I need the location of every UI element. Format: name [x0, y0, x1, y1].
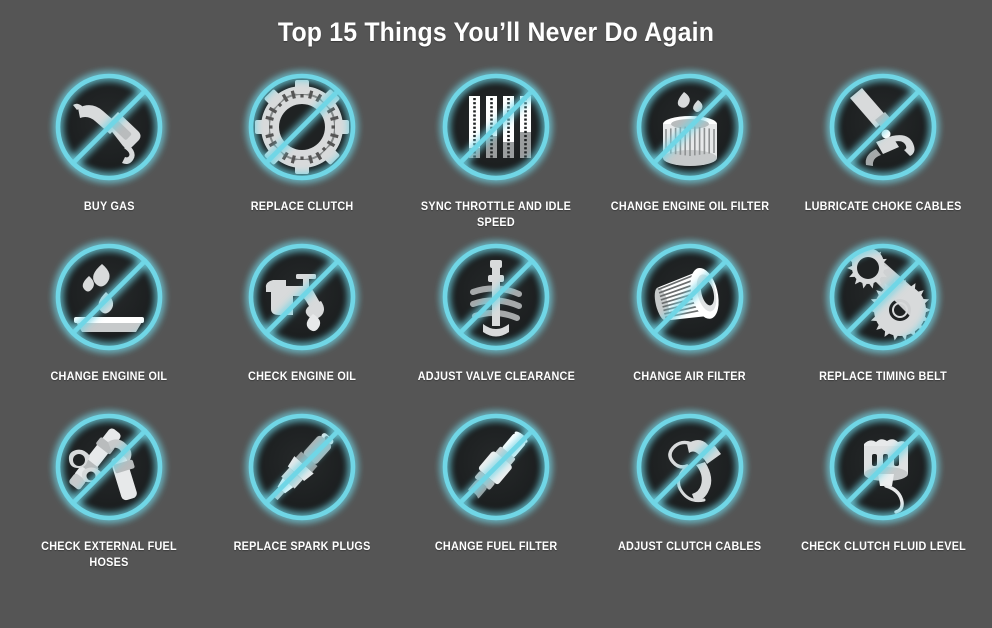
icon-card: Sync Throttle and Idle Speed [399, 64, 593, 234]
prohibition-badge [239, 64, 365, 190]
fuel-hoses-icon [66, 426, 138, 502]
icon-card: Check External Fuel Hoses [12, 404, 206, 574]
icon-card: Check Engine Oil [206, 234, 400, 404]
clutch-gear-icon [239, 64, 365, 190]
throttle-sliders-icon [469, 96, 531, 158]
prohibition-badge [627, 64, 753, 190]
clutch-lever-cable-icon [670, 440, 721, 502]
icon-label: Change Engine Oil [50, 369, 167, 385]
icon-label: Lubricate Choke Cables [805, 199, 962, 215]
prohibition-badge [239, 234, 365, 360]
icon-card: Replace Timing Belt [786, 234, 980, 404]
icon-card: Check Clutch Fluid Level [786, 404, 980, 574]
icon-card: Adjust Valve Clearance [399, 234, 593, 404]
spark-plug-icon [239, 404, 365, 530]
oil-filter-canister-icon [627, 64, 753, 190]
page-title: Top 15 Things You’ll Never Do Again [40, 0, 953, 48]
prohibition-ring [58, 76, 160, 178]
prohibition-badge [820, 64, 946, 190]
icon-label: Replace Clutch [251, 199, 354, 215]
prohibition-ring [832, 416, 934, 518]
prohibition-badge [433, 234, 559, 360]
prohibition-badge [46, 234, 172, 360]
icon-label: Replace Spark Plugs [234, 539, 371, 555]
timing-belt-gears-icon [820, 234, 946, 360]
icon-card: Adjust Clutch Cables [593, 404, 787, 574]
prohibition-ring [445, 416, 547, 518]
throttle-sliders-icon [433, 64, 559, 190]
prohibition-ring [58, 246, 160, 348]
prohibition-badge [433, 404, 559, 530]
icon-card: Replace Spark Plugs [206, 404, 400, 574]
cone-air-filter-icon [627, 234, 753, 360]
icon-card: Lubricate Choke Cables [786, 64, 980, 234]
icon-card: Buy Gas [12, 64, 206, 234]
icon-label: Check External Fuel Hoses [23, 539, 194, 571]
oil-can-icon [239, 234, 365, 360]
icon-label: Replace Timing Belt [819, 369, 947, 385]
icon-card: Replace Clutch [206, 64, 400, 234]
icon-label: Check Engine Oil [248, 369, 356, 385]
icon-label: Buy Gas [83, 199, 134, 215]
icon-label: Change Air Filter [633, 369, 746, 385]
icon-card: Change Air Filter [593, 234, 787, 404]
oil-drops-pan-icon [46, 234, 172, 360]
fuel-nozzle-icon [46, 64, 172, 190]
icon-label: Sync Throttle and Idle Speed [410, 199, 581, 231]
prohibition-badge [627, 404, 753, 530]
prohibition-ring [832, 76, 934, 178]
prohibition-ring [251, 416, 353, 518]
prohibition-ring [639, 416, 741, 518]
fluid-reservoir-icon [820, 404, 946, 530]
prohibition-ring [639, 246, 741, 348]
icon-card: Change Engine Oil [12, 234, 206, 404]
prohibition-badge [820, 234, 946, 360]
icon-grid: Buy Gas Replace Clutch [0, 64, 992, 574]
prohibition-badge [433, 64, 559, 190]
lubricant-tube-icon [820, 64, 946, 190]
prohibition-ring [251, 246, 353, 348]
prohibition-badge [46, 404, 172, 530]
icon-label: Adjust Valve Clearance [417, 369, 574, 385]
prohibition-ring [445, 76, 547, 178]
icon-label: Check Clutch Fluid Level [801, 539, 966, 555]
icon-label: Change Fuel Filter [435, 539, 558, 555]
prohibition-badge [46, 64, 172, 190]
prohibition-badge [627, 234, 753, 360]
icon-card: Change Engine Oil Filter [593, 64, 787, 234]
icon-card: Change Fuel Filter [399, 404, 593, 574]
valve-spring-icon [433, 234, 559, 360]
icon-label: Change Engine Oil Filter [610, 199, 768, 215]
prohibition-badge [239, 404, 365, 530]
fuel-hoses-icon [46, 404, 172, 530]
prohibition-badge [820, 404, 946, 530]
inline-fuel-filter-icon [433, 404, 559, 530]
clutch-lever-cable-icon [627, 404, 753, 530]
icon-label: Adjust Clutch Cables [618, 539, 761, 555]
